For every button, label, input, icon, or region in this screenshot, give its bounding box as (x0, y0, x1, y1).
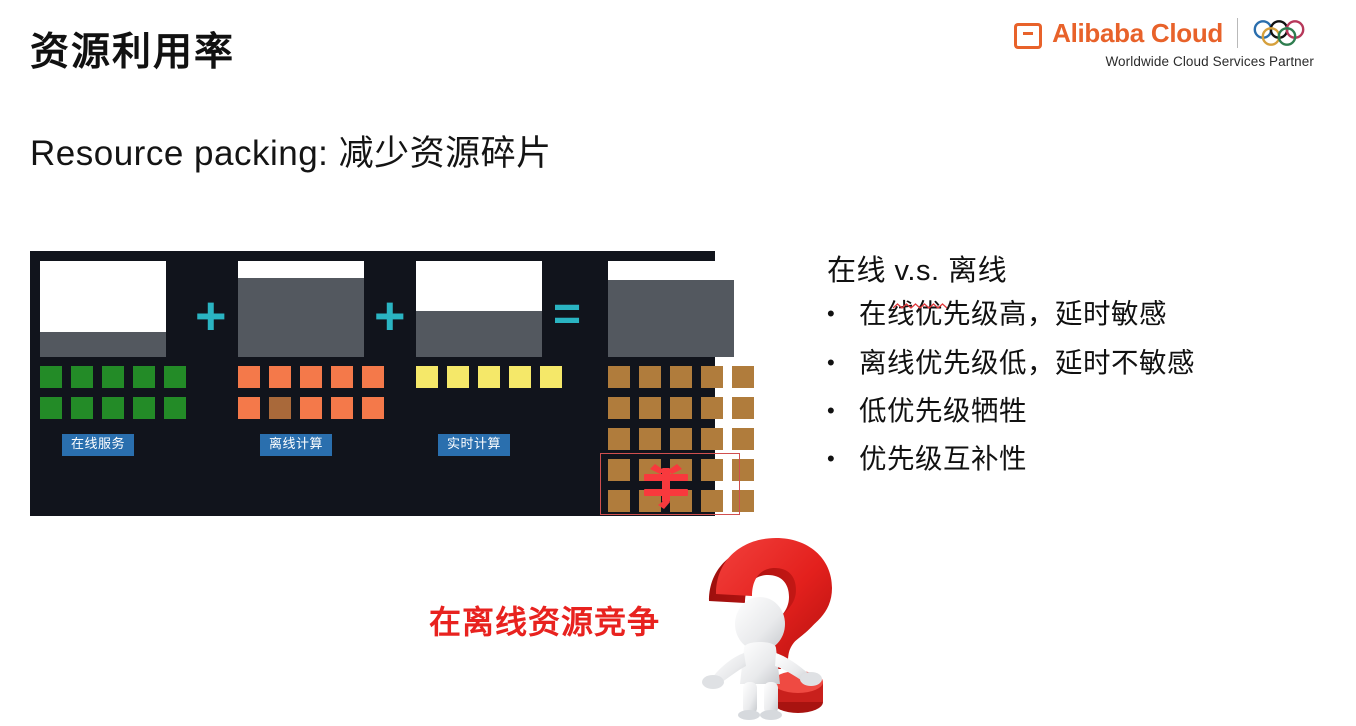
diagram-panel-realtime: 实时计算 (416, 261, 562, 456)
capacity-box-online (40, 261, 166, 357)
panel-label-offline: 离线计算 (260, 434, 332, 456)
resource-square (478, 366, 500, 388)
resource-square (509, 366, 531, 388)
resource-square (670, 366, 692, 388)
resource-square (102, 366, 124, 388)
resource-square (40, 397, 62, 419)
list-item-label: 低优先级牺牲 (859, 396, 1027, 426)
resource-square (362, 366, 384, 388)
resource-square (732, 366, 754, 388)
resource-square (732, 490, 754, 512)
panel-label-realtime: 实时计算 (438, 434, 510, 456)
resource-square (133, 397, 155, 419)
resource-square (540, 366, 562, 388)
capacity-box-result (608, 261, 734, 357)
alibaba-cloud-bracket-icon (1014, 21, 1042, 45)
resource-square (608, 490, 630, 512)
resource-square (701, 366, 723, 388)
notes-heading: 在线 v.s. 离线 (827, 253, 1007, 289)
resource-square (362, 397, 384, 419)
resource-square (608, 397, 630, 419)
capacity-box-realtime (416, 261, 542, 357)
resource-square (701, 490, 723, 512)
square-row (608, 428, 754, 450)
diagram-panel-result (608, 261, 754, 512)
resource-square (639, 397, 661, 419)
square-row (608, 459, 754, 481)
page-title: 资源利用率 (30, 33, 235, 72)
resource-square (608, 428, 630, 450)
resource-square (300, 397, 322, 419)
resource-square (164, 397, 186, 419)
list-item: • 低优先级牺牲 (827, 396, 1327, 426)
resource-square (732, 428, 754, 450)
resource-square (701, 397, 723, 419)
resource-square (71, 397, 93, 419)
brand-block: Alibaba Cloud Worldwide Cloud Services P… (1014, 18, 1314, 69)
resource-square (670, 459, 692, 481)
square-row (608, 366, 754, 388)
bullet-glyph: • (827, 299, 859, 329)
square-row (238, 366, 384, 388)
plus-operator-2: + (374, 289, 406, 343)
question-mark-person-icon (694, 532, 869, 720)
brand-name: Alibaba Cloud (1052, 20, 1223, 46)
notes-block: 在线 v.s. 离线 • 在线优先级高，延时敏感 • 离线优先级低，延时不敏感 … (827, 253, 1327, 492)
resource-square (639, 366, 661, 388)
square-row (416, 366, 562, 388)
plus-operator-1: + (195, 289, 227, 343)
diagram-panel-offline: 离线计算 (238, 261, 384, 456)
list-item: • 离线优先级低，延时不敏感 (827, 348, 1327, 378)
resource-square (639, 428, 661, 450)
panel-label-online: 在线服务 (62, 434, 134, 456)
resource-square (670, 397, 692, 419)
resource-packing-diagram: 在线服务 + 离线计算 + (30, 251, 715, 516)
resource-square (238, 397, 260, 419)
olympic-rings-icon (1252, 19, 1314, 47)
square-row (608, 397, 754, 419)
resource-square (331, 397, 353, 419)
spellcheck-squiggle-icon (893, 282, 947, 288)
resource-square (701, 428, 723, 450)
square-row (608, 490, 754, 512)
brand-tagline: Worldwide Cloud Services Partner (1014, 54, 1314, 69)
brand-divider (1237, 18, 1238, 48)
resource-square (670, 490, 692, 512)
resource-square (40, 366, 62, 388)
resource-square (670, 428, 692, 450)
resource-square (639, 490, 661, 512)
square-row (238, 397, 384, 419)
resource-square (447, 366, 469, 388)
square-row (40, 366, 186, 388)
panel-label-wrap: 离线计算 (260, 434, 384, 456)
panel-label-wrap: 实时计算 (438, 434, 562, 456)
resource-square (133, 366, 155, 388)
red-caption: 在离线资源竞争 (429, 606, 660, 638)
notes-list: • 在线优先级高，延时敏感 • 离线优先级低，延时不敏感 • 低优先级牺牲 • … (827, 299, 1327, 474)
diagram-panel-online: 在线服务 (40, 261, 186, 456)
bullet-glyph: • (827, 396, 859, 426)
list-item-label: 优先级互补性 (859, 444, 1027, 474)
resource-square (416, 366, 438, 388)
resource-square (732, 459, 754, 481)
resource-square (608, 459, 630, 481)
resource-square (300, 366, 322, 388)
page-subtitle: Resource packing: 减少资源碎片 (30, 133, 552, 175)
resource-square (71, 366, 93, 388)
resource-square (608, 366, 630, 388)
resource-square (102, 397, 124, 419)
resource-square (639, 459, 661, 481)
resource-square (269, 397, 291, 419)
resource-square (238, 366, 260, 388)
capacity-box-offline (238, 261, 364, 357)
square-row (40, 397, 186, 419)
brand-row: Alibaba Cloud (1014, 18, 1314, 48)
panel-label-wrap: 在线服务 (62, 434, 186, 456)
resource-square (269, 366, 291, 388)
resource-square (164, 366, 186, 388)
equals-operator: = (553, 291, 581, 339)
bullet-glyph: • (827, 444, 859, 474)
list-item-label: 离线优先级低，延时不敏感 (859, 348, 1195, 378)
resource-square (331, 366, 353, 388)
list-item: • 优先级互补性 (827, 444, 1327, 474)
bullet-glyph: • (827, 348, 859, 378)
resource-square (701, 459, 723, 481)
result-square-grid (608, 366, 754, 512)
resource-square (732, 397, 754, 419)
